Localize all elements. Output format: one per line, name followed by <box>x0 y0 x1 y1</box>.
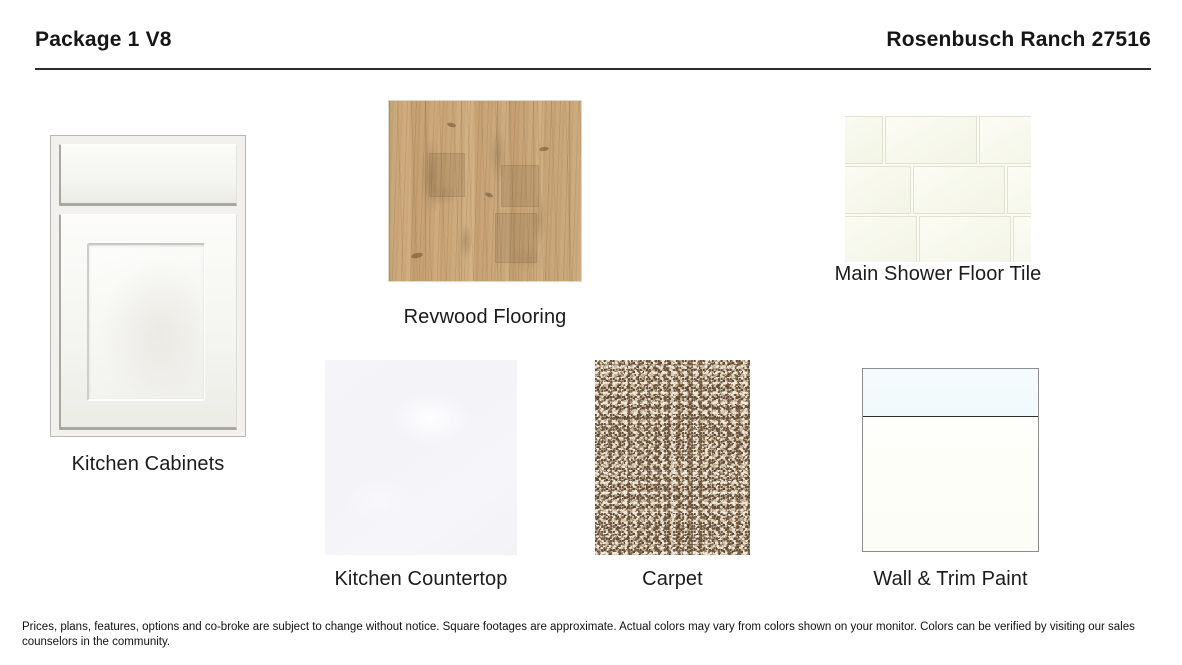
tile-unit <box>845 116 883 164</box>
cabinet-door-image <box>50 135 246 437</box>
paint-wall-band <box>863 369 1038 417</box>
tile-unit <box>845 216 917 262</box>
swatch-kitchen-cabinets[interactable]: Kitchen Cabinets <box>50 135 246 437</box>
carpet-image <box>595 360 750 555</box>
swatch-carpet[interactable]: Carpet <box>595 360 750 555</box>
cabinet-recessed-panel <box>87 243 205 401</box>
wood-knot <box>411 252 424 259</box>
subway-tile-image <box>845 116 1031 262</box>
cabinet-drawer-front <box>59 144 237 206</box>
wood-grain-patch <box>429 153 465 197</box>
swatch-label-kitchen-countertop: Kitchen Countertop <box>334 568 507 591</box>
wood-grain-patch <box>495 213 537 263</box>
swatch-main-shower-floor-tile[interactable]: Main Shower Floor Tile <box>845 116 1031 262</box>
tile-unit <box>1013 216 1031 262</box>
tile-unit <box>919 216 1011 262</box>
paint-trim-band <box>863 417 1038 551</box>
swatch-label-wall-trim-paint: Wall & Trim Paint <box>873 568 1027 591</box>
tile-unit <box>845 166 911 214</box>
wood-knot <box>539 146 549 151</box>
wood-knot <box>447 122 457 128</box>
tile-unit <box>885 116 977 164</box>
cabinet-door-front <box>59 214 237 430</box>
swatch-revwood-flooring[interactable]: Revwood Flooring <box>388 100 582 282</box>
wood-floor-image <box>388 100 582 282</box>
wood-grain-patch <box>501 165 539 207</box>
tile-unit <box>979 116 1031 164</box>
swatch-kitchen-countertop[interactable]: Kitchen Countertop <box>325 360 517 555</box>
countertop-image <box>325 360 517 555</box>
disclaimer-text: Prices, plans, features, options and co-… <box>22 620 1142 650</box>
wood-knot <box>485 192 494 199</box>
swatch-label-kitchen-cabinets: Kitchen Cabinets <box>72 453 225 476</box>
selection-board: Kitchen Cabinets Revwood Flooring <box>0 0 1182 665</box>
swatch-label-revwood-flooring: Revwood Flooring <box>404 306 567 329</box>
tile-unit <box>913 166 1005 214</box>
paint-chip-image <box>862 368 1039 552</box>
swatch-label-carpet: Carpet <box>642 568 703 591</box>
swatch-label-main-shower-floor-tile: Main Shower Floor Tile <box>835 263 1042 286</box>
swatch-wall-trim-paint[interactable]: Wall & Trim Paint <box>862 368 1039 552</box>
tile-unit <box>1007 166 1031 214</box>
